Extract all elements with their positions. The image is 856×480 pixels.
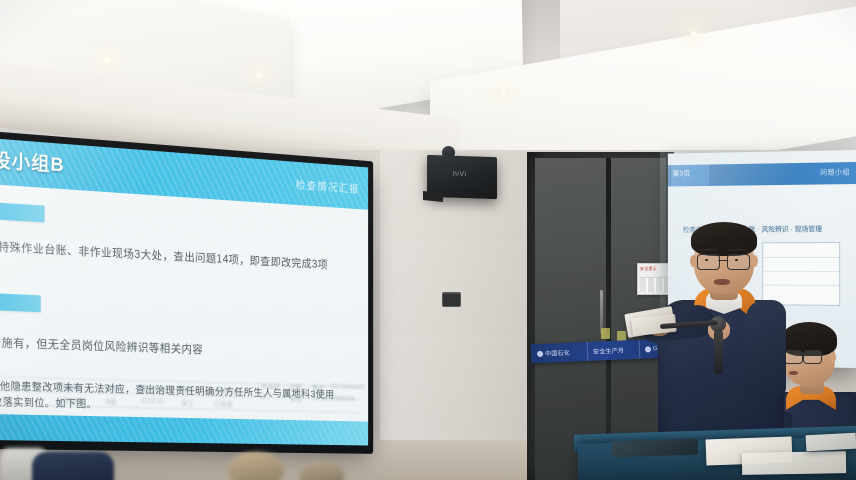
presenter-eye: [735, 259, 738, 261]
table-cell: 专项: [290, 395, 302, 405]
secondary-display-panel: [762, 242, 840, 306]
presenter-brow: [728, 249, 746, 251]
slide-body-line: 险控措施有，但无全员岗位风险辨识等相关内容: [0, 333, 203, 357]
banner-divider: [639, 340, 641, 359]
table-cell: 整改: [312, 383, 324, 393]
banner-segment-label: 中国石化: [545, 348, 570, 358]
microphone-body[interactable]: [714, 330, 723, 374]
downlight-icon: [253, 70, 265, 79]
attendee-glasses-bridge: [800, 355, 804, 356]
attendee-ear: [829, 352, 836, 363]
banner-logo-icon: [645, 346, 651, 352]
presenter-ear: [690, 255, 697, 267]
downlight-icon: [497, 88, 510, 97]
banner-logo-icon: [537, 350, 543, 356]
table-cell: 整改期限: [141, 384, 167, 394]
banner-divider: [587, 342, 589, 361]
table-rule: [0, 390, 360, 400]
secondary-display-tab-label: 第3页: [673, 169, 691, 179]
presenter-eye: [705, 259, 708, 261]
table-cell: 责任人: [181, 385, 200, 395]
table-cell: 检查组: [104, 383, 124, 393]
panel-rule: [763, 271, 839, 272]
speaker-brand-label: hiVi: [453, 171, 467, 178]
table-document[interactable]: [806, 433, 856, 452]
table-cell: 序号: [14, 381, 28, 391]
table-rule: [0, 376, 360, 387]
banner-segment-label: 安全生产月: [593, 345, 624, 355]
table-cell: B: [262, 394, 266, 401]
banner-segment: 中国石化: [537, 346, 570, 360]
wall-switch-plate[interactable]: [442, 292, 461, 307]
attendee-mouth: [789, 371, 798, 375]
bullet-marker-2: [0, 293, 41, 312]
downlight-icon: [100, 55, 113, 64]
projection-screen: 设小组B 检查情况汇报 特殊作业台账、非作业现场3大处，查出问题14项，即查即改…: [0, 138, 368, 446]
table-cell: 检查组: [262, 382, 280, 392]
presenter-glasses: [697, 254, 720, 270]
screenshot-root: 设小组B 检查情况汇报 特殊作业台账、非作业现场3大处，查出问题14项，即查即改…: [0, 0, 856, 480]
downlight-icon: [688, 30, 699, 38]
foreground-audience-head: [228, 452, 284, 480]
table-cell: 张工: [181, 399, 194, 409]
table-cell: 台账缺项: [56, 396, 83, 406]
banner-segment: 安全生产月: [593, 343, 625, 357]
bullet-marker-1: [0, 202, 45, 223]
door-sign-grid: [640, 277, 671, 292]
table-cell: 2023.11: [141, 398, 164, 405]
presenter-right-arm: [746, 300, 786, 396]
table-cell: 已完成: [214, 399, 233, 409]
table-cell: 1: [15, 395, 19, 402]
door-sign-title: 安全提示: [640, 266, 657, 272]
slide-data-table: 序号 问题描述 检查组 整改期限 责任人 完成情况 1 台账缺项 B组 2023…: [0, 368, 360, 421]
door-lock-icon[interactable]: [601, 328, 610, 339]
presenter-glasses: [727, 254, 750, 270]
table-cell: OS·04/04/05: [331, 384, 365, 391]
table-cell: 04/05/05: [331, 396, 354, 403]
table-cell: 完成情况: [214, 386, 239, 396]
screen-surface: 设小组B 检查情况汇报 特殊作业台账、非作业现场3大处，查出问题14项，即查即改…: [0, 138, 368, 446]
door-center-mullion: [606, 158, 611, 480]
panel-rule: [763, 285, 839, 286]
foreground-chair: [32, 452, 114, 480]
presentation-slide: 设小组B 检查情况汇报 特殊作业台账、非作业现场3大处，查出问题14项，即查即改…: [0, 138, 368, 446]
slide-body-line: 特殊作业台账、非作业现场3大处，查出问题14项，即查即改完成3项: [0, 239, 328, 273]
table-cell: 问题描述: [56, 382, 83, 393]
table-document[interactable]: [742, 451, 846, 475]
presenter-glasses-bridge: [718, 260, 727, 261]
secondary-display-header-right: 问题小组: [820, 167, 850, 177]
attendee-glasses: [803, 350, 822, 364]
table-cell: B组: [106, 397, 117, 407]
panel-rule: [763, 257, 839, 258]
presenter-brow: [700, 249, 718, 251]
presenter-ear: [751, 255, 758, 267]
table-rule: [0, 404, 360, 413]
table-device[interactable]: [612, 438, 698, 457]
attendee-glasses: [784, 350, 803, 364]
table-cell: 问题: [290, 383, 302, 393]
table-cell: 04·05: [312, 395, 327, 402]
presenter-mouth: [714, 279, 730, 285]
slide-title: 设小组B: [0, 145, 65, 177]
